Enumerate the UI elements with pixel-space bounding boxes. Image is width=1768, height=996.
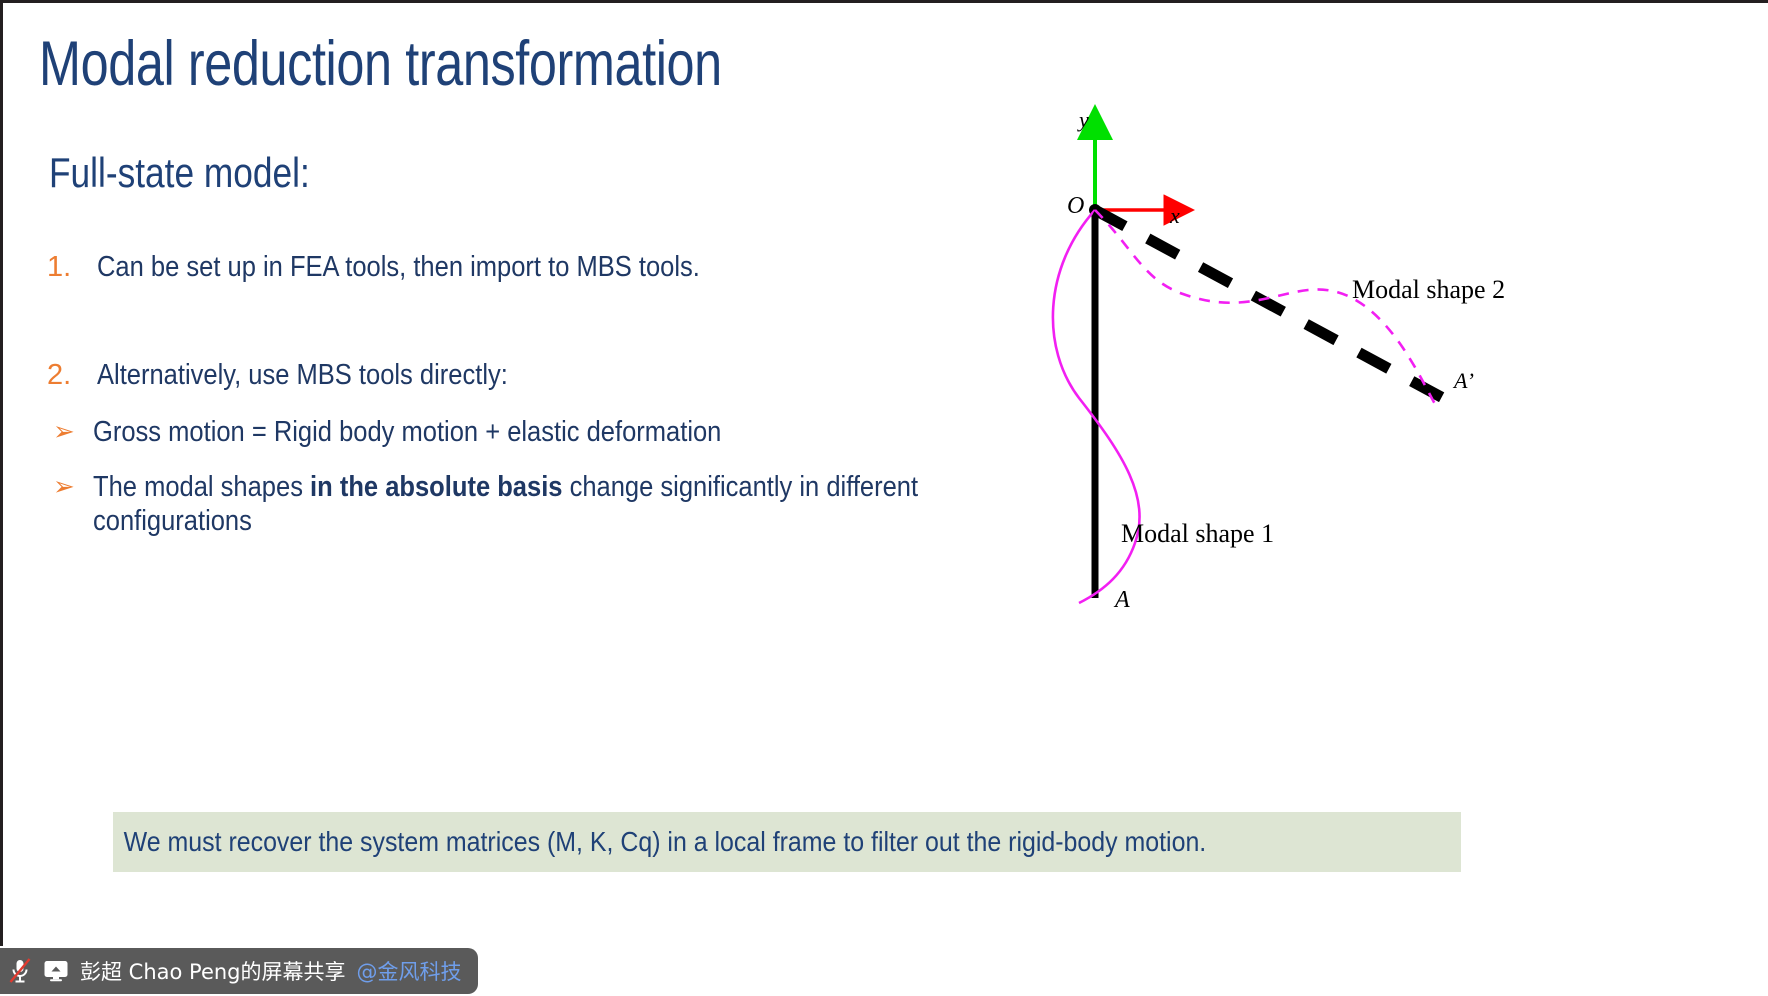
list-item-label: The modal shapes in the absolute basis c… (93, 470, 991, 538)
axis-label-y: y (1079, 107, 1089, 133)
section-subtitle: Full-state model: (49, 149, 310, 197)
origin-label: O (1067, 193, 1084, 220)
arrow-bullet-icon: ➢ (53, 415, 93, 448)
page-title: Modal reduction transformation (39, 31, 722, 97)
list-item-text-pre: The modal shapes (93, 471, 310, 503)
list-item: 1. Can be set up in FEA tools, then impo… (47, 250, 782, 284)
modal-shape-2-label: Modal shape 2 (1352, 275, 1505, 305)
tip-label-a: A (1115, 587, 1130, 614)
modal-shape-1-label: Modal shape 1 (1121, 519, 1274, 549)
list-item: ➢ The modal shapes in the absolute basis… (53, 470, 1113, 538)
callout-banner: We must recover the system matrices (M, … (113, 812, 1461, 872)
mic-muted-icon[interactable] (8, 958, 32, 984)
axis-label-x: x (1170, 203, 1180, 229)
list-marker-number: 2. (47, 358, 97, 392)
diagram-canvas (1023, 98, 1643, 658)
arrow-bullet-icon: ➢ (53, 470, 93, 503)
share-status-pill[interactable]: 彭超 Chao Peng的屏幕共享 @金风科技 (0, 948, 478, 994)
list-item-label: Can be set up in FEA tools, then import … (97, 250, 700, 284)
callout-text: We must recover the system matrices (M, … (113, 826, 1206, 858)
list-marker-number: 1. (47, 250, 97, 284)
beam-modal-shape-diagram: y x O A A’ Modal shape 1 Modal shape 2 (1023, 98, 1643, 658)
screen-share-icon[interactable] (43, 959, 69, 983)
share-org-text: @金风科技 (357, 956, 462, 986)
share-owner-text: 彭超 Chao Peng的屏幕共享 (80, 956, 346, 986)
list-item-text-emphasis: in the absolute basis (310, 471, 562, 503)
screen-share-taskbar: 彭超 Chao Peng的屏幕共享 @金风科技 (0, 946, 1768, 996)
tip-label-a-prime: A’ (1454, 368, 1474, 394)
list-item: 2. Alternatively, use MBS tools directly… (47, 358, 564, 392)
list-item-label: Gross motion = Rigid body motion + elast… (93, 415, 721, 449)
list-item-label: Alternatively, use MBS tools directly: (97, 358, 508, 392)
list-item: ➢ Gross motion = Rigid body motion + ela… (53, 415, 807, 449)
presentation-slide: Modal reduction transformation Full-stat… (0, 0, 1768, 946)
